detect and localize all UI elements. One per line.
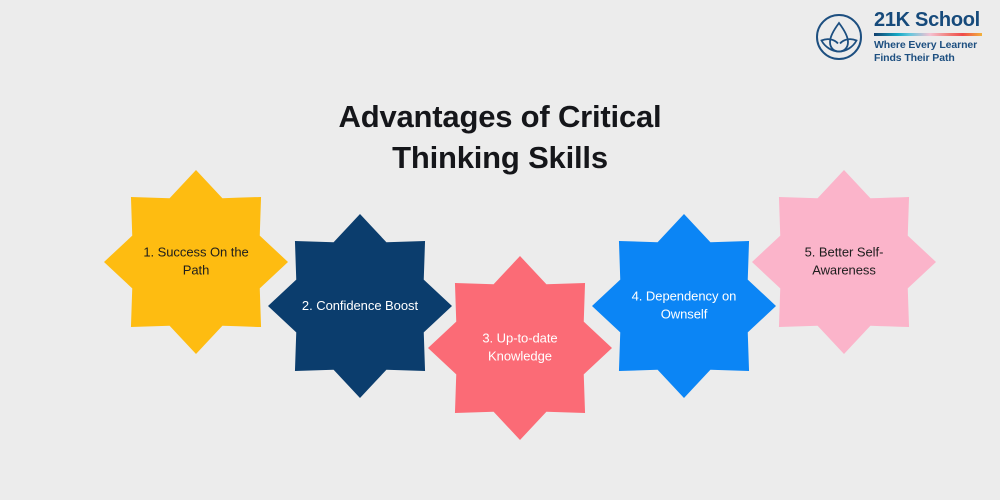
advantage-label-3: 3. Up-to-dateKnowledge [452,330,588,367]
advantages-diagram: 1. Success On thePath2. Confidence Boost… [0,0,1000,500]
advantage-label-line-2: Awareness [812,263,876,278]
advantage-label-line-1: 1. Success On the [143,245,248,260]
advantage-label-line-1: 2. Confidence Boost [302,298,418,313]
advantage-label-line-2: Knowledge [488,349,552,364]
advantage-label-2: 2. Confidence Boost [292,297,428,315]
advantage-label-4: 4. Dependency onOwnself [616,288,752,325]
advantage-shape-4[interactable]: 4. Dependency onOwnself [592,214,776,398]
advantage-shape-3[interactable]: 3. Up-to-dateKnowledge [428,256,612,440]
advantage-label-line-2: Path [183,263,210,278]
advantage-label-line-2: Ownself [661,307,708,322]
advantage-label-line-1: 3. Up-to-date [482,331,557,346]
advantage-shape-5[interactable]: 5. Better Self-Awareness [752,170,936,354]
advantage-shape-2[interactable]: 2. Confidence Boost [268,214,452,398]
advantage-label-line-1: 4. Dependency on [632,289,737,304]
advantage-label-5: 5. Better Self-Awareness [776,244,912,281]
advantage-label-1: 1. Success On thePath [128,244,264,281]
advantage-label-line-1: 5. Better Self- [805,245,884,260]
advantage-shape-1[interactable]: 1. Success On thePath [104,170,288,354]
